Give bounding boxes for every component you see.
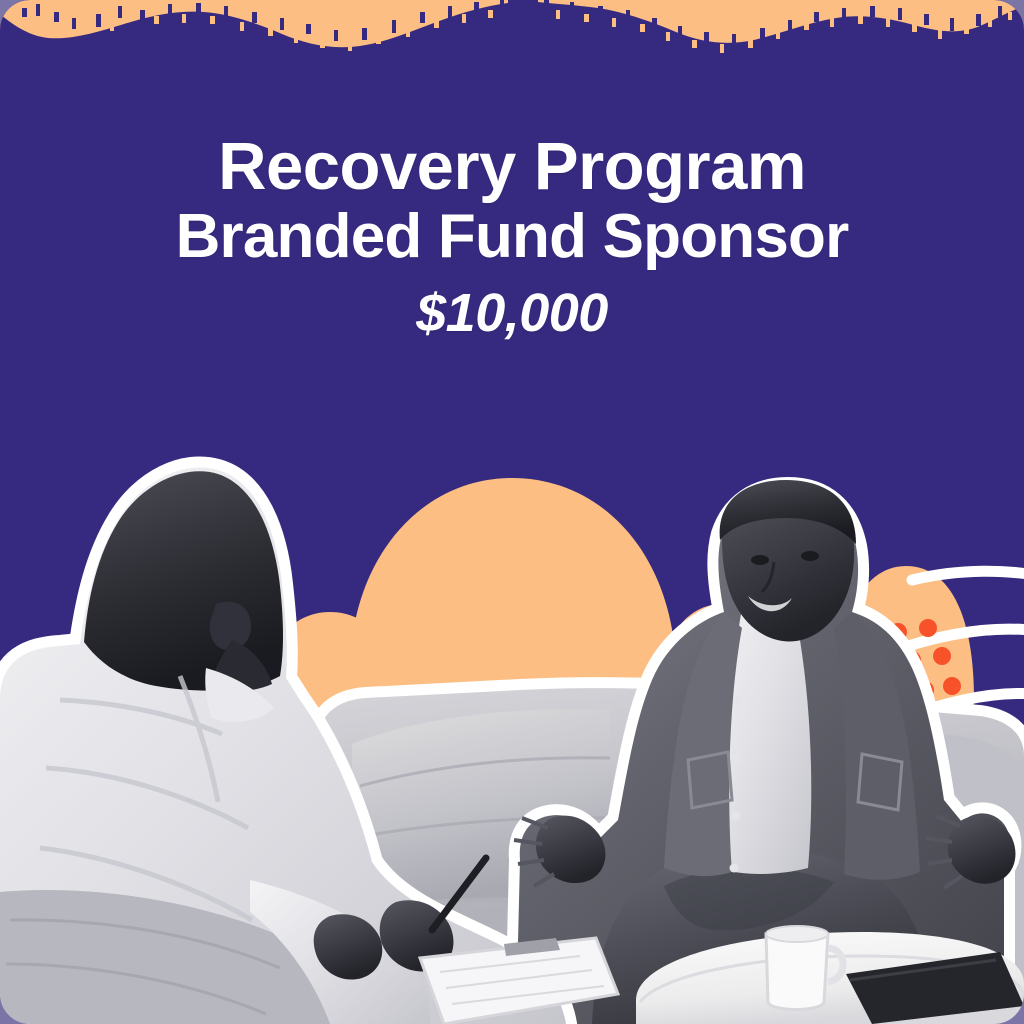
page-title-line-1: Recovery Program — [0, 132, 1024, 201]
sponsorship-card: Recovery Program Branded Fund Sponsor $1… — [0, 0, 1024, 1024]
peach-arch-blob — [350, 478, 782, 810]
page-title-line-2: Branded Fund Sponsor — [0, 201, 1024, 273]
headline-block: Recovery Program Branded Fund Sponsor $1… — [0, 132, 1024, 354]
sponsorship-amount: $10,000 — [0, 273, 1024, 354]
